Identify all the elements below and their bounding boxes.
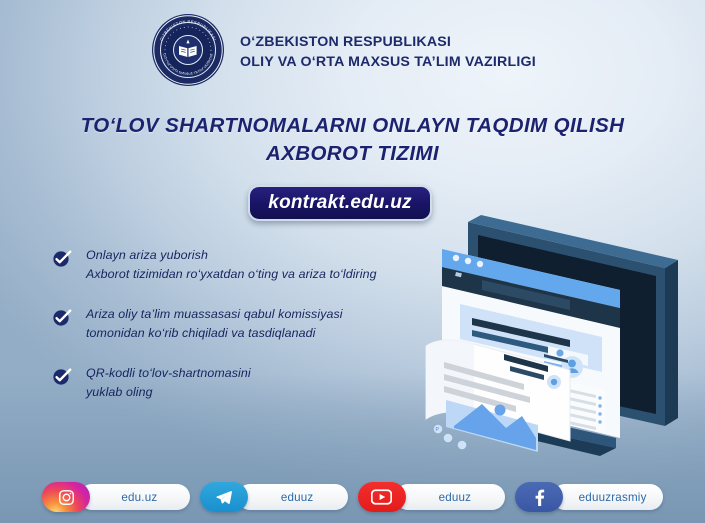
- ministry-line-2: OLIY VA O‘RTA MAXSUS TA’LIM VAZIRLIGI: [240, 54, 536, 71]
- feature-line-2: Axborot tizimidan ro‘yxatdan o‘ting va a…: [86, 265, 377, 284]
- ministry-name: O‘ZBEKISTON RESPUBLIKASI OLIY VA O‘RTA M…: [240, 30, 536, 71]
- social-link-instagram[interactable]: edu.uz: [42, 482, 190, 512]
- feature-text: QR-kodli to‘lov-shartnomasini yuklab oli…: [86, 364, 251, 401]
- title-line-1: TO‘LOV SHARTNOMALARNI ONLAYN TAQDIM QILI…: [0, 112, 705, 140]
- uzbekistan-state-emblem-icon: O‘ZBEKISTON RESPUBLIKASI OLIY VA O‘RTA M…: [150, 12, 226, 88]
- telegram-icon[interactable]: [200, 482, 248, 512]
- check-circle-icon: [52, 248, 72, 268]
- instagram-icon[interactable]: [42, 482, 90, 512]
- page-title: TO‘LOV SHARTNOMALARNI ONLAYN TAQDIM QILI…: [0, 112, 705, 167]
- telegram-handle-text: eduuz: [281, 491, 314, 504]
- social-handle-instagram[interactable]: edu.uz: [79, 484, 190, 510]
- feature-item: Ariza oliy ta’lim muassasasi qabul komis…: [52, 305, 452, 342]
- feature-item: Onlayn ariza yuborish Axborot tizimidan …: [52, 246, 452, 283]
- check-circle-icon: [52, 307, 72, 327]
- feature-line-1: Onlayn ariza yuborish: [86, 246, 377, 265]
- social-handle-facebook[interactable]: eduuzrasmiy: [552, 484, 663, 510]
- social-handle-telegram[interactable]: eduuz: [237, 484, 348, 510]
- feature-text: Onlayn ariza yuborish Axborot tizimidan …: [86, 246, 377, 283]
- website-url-button[interactable]: kontrakt.edu.uz: [248, 185, 432, 221]
- youtube-icon[interactable]: [358, 482, 406, 512]
- youtube-handle-text: eduuz: [439, 491, 472, 504]
- isometric-monitor-illustration: P: [420, 186, 690, 461]
- social-link-telegram[interactable]: eduuz: [200, 482, 348, 512]
- facebook-handle-text: eduuzrasmiy: [579, 491, 647, 504]
- title-line-2: AXBOROT TIZIMI: [0, 140, 705, 168]
- poster-canvas: O‘ZBEKISTON RESPUBLIKASI OLIY VA O‘RTA M…: [0, 0, 705, 523]
- social-link-youtube[interactable]: eduuz: [358, 482, 506, 512]
- feature-item: QR-kodli to‘lov-shartnomasini yuklab oli…: [52, 364, 452, 401]
- feature-line-1: QR-kodli to‘lov-shartnomasini: [86, 364, 251, 383]
- feature-text: Ariza oliy ta’lim muassasasi qabul komis…: [86, 305, 343, 342]
- feature-list: Onlayn ariza yuborish Axborot tizimidan …: [52, 246, 452, 424]
- check-circle-icon: [52, 366, 72, 386]
- ministry-header: O‘ZBEKISTON RESPUBLIKASI OLIY VA O‘RTA M…: [150, 12, 536, 88]
- social-links-bar: edu.uz eduuz eduuz: [0, 482, 705, 512]
- social-handle-youtube[interactable]: eduuz: [395, 484, 506, 510]
- feature-line-2: tomonidan ko‘rib chiqiladi va tasdiqlana…: [86, 324, 343, 343]
- website-url-label: kontrakt.edu.uz: [268, 192, 411, 214]
- social-link-facebook[interactable]: eduuzrasmiy: [515, 482, 663, 512]
- facebook-icon[interactable]: [515, 482, 563, 512]
- feature-line-1: Ariza oliy ta’lim muassasasi qabul komis…: [86, 305, 343, 324]
- ministry-line-1: O‘ZBEKISTON RESPUBLIKASI: [240, 34, 536, 51]
- instagram-handle-text: edu.uz: [121, 491, 157, 504]
- feature-line-2: yuklab oling: [86, 383, 251, 402]
